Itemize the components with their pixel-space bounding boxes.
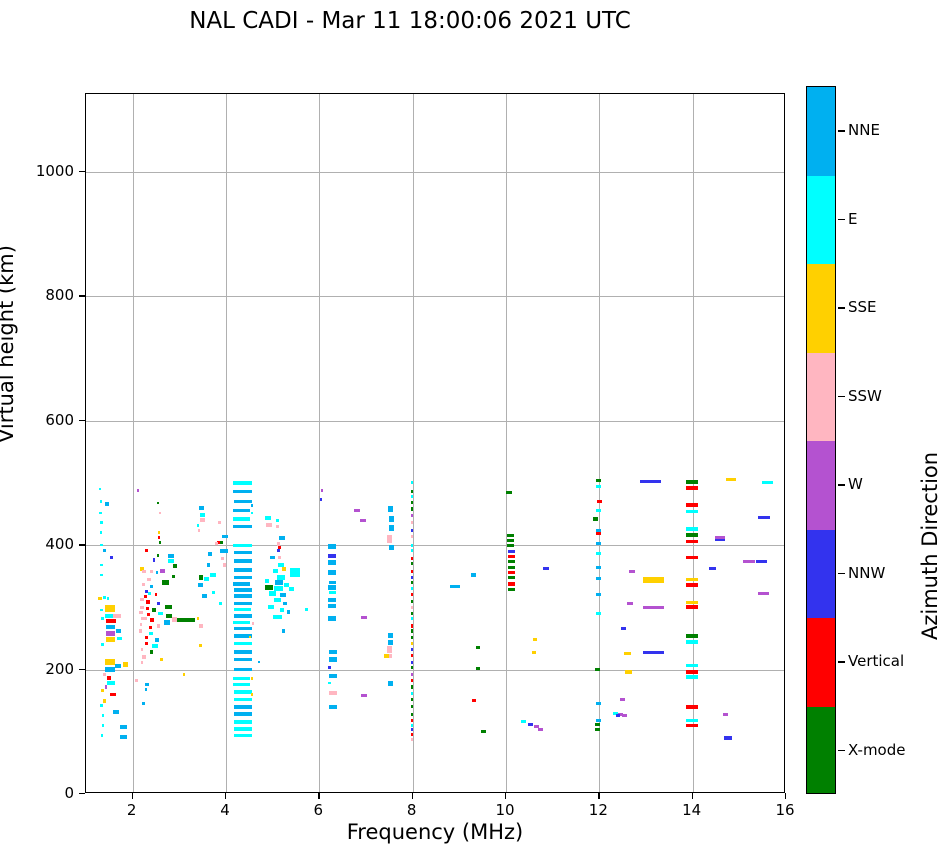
echo-mark	[411, 612, 413, 615]
echo-mark	[389, 525, 394, 531]
echo-mark	[411, 495, 413, 498]
echo-mark	[686, 486, 698, 490]
echo-mark	[234, 712, 252, 716]
x-tick-mark	[412, 793, 413, 799]
echo-mark	[596, 529, 601, 532]
colorbar-tick	[838, 219, 845, 220]
echo-mark	[142, 655, 146, 659]
echo-mark	[222, 535, 229, 539]
echo-mark	[153, 558, 155, 561]
y-tick-mark	[79, 295, 85, 296]
echo-mark	[173, 564, 177, 568]
echo-mark	[251, 512, 253, 514]
echo-mark	[329, 591, 336, 594]
colorbar-tick	[838, 661, 845, 662]
echo-mark	[411, 685, 413, 688]
echo-mark	[686, 640, 698, 644]
echo-mark	[150, 650, 153, 654]
echo-mark	[411, 654, 413, 657]
echo-mark	[361, 616, 367, 619]
echo-mark	[145, 688, 147, 690]
echo-mark	[743, 560, 755, 563]
echo-mark	[686, 705, 698, 709]
echo-mark	[361, 694, 367, 697]
echo-mark	[411, 724, 413, 727]
echo-mark	[233, 544, 252, 547]
echo-mark	[162, 580, 169, 584]
colorbar-tick	[838, 396, 845, 397]
echo-mark	[506, 491, 512, 494]
echo-mark	[221, 557, 224, 560]
echo-mark	[277, 575, 285, 580]
echo-mark	[411, 481, 413, 484]
echo-mark	[620, 698, 626, 701]
echo-mark	[388, 633, 393, 638]
echo-mark	[622, 714, 627, 717]
colorbar-tick	[838, 307, 845, 308]
echo-mark	[139, 629, 142, 632]
echo-mark	[507, 544, 514, 547]
echo-mark	[388, 640, 393, 645]
y-axis-label: Virtual height (km)	[0, 245, 18, 443]
echo-mark	[596, 612, 601, 615]
echo-mark	[218, 521, 221, 524]
echo-mark	[199, 644, 202, 647]
gridline-vertical	[226, 94, 227, 792]
echo-mark	[149, 632, 153, 636]
echo-mark	[234, 650, 252, 654]
echo-mark	[270, 556, 275, 560]
echo-mark	[234, 698, 252, 702]
echo-mark	[123, 662, 128, 666]
echo-mark	[116, 629, 122, 633]
echo-mark	[596, 593, 601, 596]
colorbar-segment-x-mode[interactable]	[807, 707, 835, 795]
echo-mark	[411, 617, 413, 620]
echo-mark	[411, 679, 413, 682]
echo-mark	[533, 638, 538, 641]
echo-mark	[329, 674, 337, 678]
echo-mark	[329, 650, 337, 654]
page-title: NAL CADI - Mar 11 18:00:06 2021 UTC	[0, 8, 820, 34]
echo-mark	[135, 679, 138, 682]
echo-mark	[220, 541, 223, 545]
echo-mark	[328, 560, 336, 564]
echo-mark	[234, 500, 252, 504]
echo-mark	[234, 658, 252, 662]
colorbar-segment-nnw[interactable]	[807, 530, 835, 619]
echo-mark	[107, 597, 110, 599]
echo-mark	[265, 585, 272, 589]
gridline-horizontal	[86, 545, 784, 546]
echo-mark	[508, 566, 515, 569]
echo-mark	[476, 646, 481, 649]
y-tick-label: 200	[10, 660, 74, 678]
echo-mark	[158, 536, 160, 539]
echo-mark	[275, 580, 282, 584]
echo-mark	[265, 516, 271, 520]
echo-mark	[388, 681, 393, 686]
colorbar-segment-ssw[interactable]	[807, 353, 835, 442]
echo-mark	[98, 597, 102, 600]
y-tick-mark	[79, 669, 85, 670]
echo-mark	[168, 559, 174, 563]
echo-mark	[233, 677, 250, 680]
echo-mark	[472, 699, 476, 702]
echo-mark	[411, 576, 413, 579]
echo-mark	[117, 637, 123, 641]
echo-mark	[360, 519, 366, 522]
colorbar-label-sse: SSE	[848, 298, 877, 316]
echo-mark	[329, 705, 337, 709]
echo-mark	[686, 675, 698, 678]
echo-mark	[411, 733, 413, 736]
echo-mark	[150, 618, 154, 622]
echo-mark	[596, 719, 601, 722]
echo-mark	[389, 545, 394, 550]
echo-mark	[643, 651, 664, 654]
echo-mark	[538, 728, 543, 731]
colorbar-segment-nne[interactable]	[807, 87, 835, 176]
echo-mark	[233, 481, 252, 485]
plot-area[interactable]	[85, 93, 785, 793]
echo-mark	[476, 667, 481, 670]
echo-mark	[621, 627, 626, 630]
echo-mark	[102, 714, 104, 716]
echo-mark	[159, 512, 161, 514]
echo-mark	[507, 534, 514, 537]
echo-mark	[411, 673, 413, 676]
echo-mark	[411, 501, 413, 504]
echo-mark	[233, 490, 252, 494]
echo-mark	[389, 516, 394, 522]
x-tick-mark	[598, 793, 599, 799]
echo-mark	[100, 704, 103, 707]
echo-mark	[411, 557, 413, 560]
colorbar-title: Azimuth Direction	[918, 452, 942, 640]
echo-mark	[411, 698, 413, 701]
echo-mark	[596, 566, 601, 569]
echo-mark	[276, 525, 279, 528]
x-tick-label: 12	[573, 801, 623, 819]
gridline-horizontal	[86, 172, 784, 173]
echo-mark	[147, 578, 150, 581]
echo-mark	[596, 552, 601, 555]
echo-mark	[199, 506, 204, 510]
echo-mark	[234, 727, 252, 731]
echo-mark	[596, 509, 601, 512]
echo-mark	[223, 563, 226, 566]
echo-mark	[200, 518, 205, 522]
echo-mark	[157, 624, 160, 627]
echo-mark	[277, 549, 280, 552]
echo-mark	[762, 481, 773, 484]
echo-mark	[120, 735, 127, 739]
echo-mark	[219, 602, 222, 605]
x-tick-label: 14	[667, 801, 717, 819]
colorbar-label-w: W	[848, 475, 863, 493]
echo-mark	[640, 480, 661, 483]
echo-mark	[290, 568, 300, 578]
echo-mark	[220, 549, 227, 553]
echo-mark	[145, 549, 148, 552]
echo-mark	[269, 591, 276, 595]
echo-mark	[328, 570, 336, 574]
echo-mark	[596, 577, 601, 580]
echo-mark	[100, 531, 102, 533]
echo-mark	[234, 690, 252, 694]
echo-mark	[726, 478, 735, 481]
echo-mark	[528, 723, 533, 726]
echo-mark	[287, 610, 291, 614]
x-tick-label: 6	[293, 801, 343, 819]
echo-mark	[155, 593, 158, 596]
y-tick-mark	[79, 793, 85, 794]
echo-mark	[107, 681, 115, 685]
colorbar-label-e: E	[848, 210, 857, 228]
echo-mark	[156, 571, 159, 574]
echo-mark	[106, 631, 115, 636]
y-tick-mark	[79, 544, 85, 545]
echo-mark	[101, 643, 104, 645]
echo-mark	[234, 559, 252, 563]
echo-mark	[105, 502, 108, 505]
colorbar-segment-w[interactable]	[807, 441, 835, 530]
echo-mark	[152, 644, 158, 648]
colorbar[interactable]	[806, 86, 836, 794]
echo-mark	[234, 568, 252, 572]
echo-mark	[164, 620, 170, 625]
echo-mark	[686, 670, 698, 674]
echo-mark	[234, 668, 252, 672]
echo-mark	[411, 581, 413, 584]
echo-mark	[102, 724, 104, 726]
echo-mark	[411, 606, 413, 609]
echo-mark	[280, 608, 285, 612]
echo-mark	[686, 527, 698, 531]
echo-mark	[251, 693, 253, 696]
echo-mark	[274, 598, 281, 602]
echo-mark	[157, 602, 160, 605]
echo-mark	[197, 524, 200, 527]
echo-mark	[686, 719, 698, 721]
echo-mark	[686, 503, 698, 507]
echo-mark	[197, 617, 200, 620]
echo-mark	[329, 691, 337, 695]
echo-mark	[234, 627, 252, 631]
echo-mark	[100, 564, 103, 566]
echo-mark	[208, 552, 213, 556]
x-tick-mark	[132, 793, 133, 799]
echo-mark	[252, 622, 254, 624]
echo-mark	[168, 554, 174, 558]
echo-mark	[411, 529, 413, 532]
echo-mark	[508, 550, 515, 553]
echo-mark	[411, 629, 413, 632]
echo-mark	[273, 615, 281, 619]
colorbar-tick	[838, 750, 845, 751]
echo-mark	[100, 609, 103, 611]
echo-mark	[624, 652, 631, 655]
echo-mark	[141, 661, 144, 664]
echo-mark	[328, 598, 336, 602]
echo-mark	[411, 624, 413, 627]
echo-mark	[411, 719, 413, 722]
echo-mark	[100, 544, 103, 546]
echo-mark	[234, 608, 251, 611]
echo-mark	[274, 586, 283, 590]
echo-mark	[101, 689, 104, 692]
gridline-vertical	[599, 94, 600, 792]
echo-mark	[158, 612, 163, 615]
echo-mark	[686, 583, 698, 587]
echo-mark	[234, 705, 252, 709]
echo-mark	[115, 664, 121, 668]
echo-mark	[198, 529, 201, 532]
echo-mark	[596, 479, 601, 482]
colorbar-label-ssw: SSW	[848, 387, 882, 405]
echo-mark	[234, 734, 252, 738]
echo-mark	[627, 602, 633, 605]
echo-mark	[183, 673, 186, 676]
echo-mark	[411, 549, 413, 552]
echo-mark	[411, 728, 413, 731]
echo-mark	[723, 713, 729, 716]
echo-mark	[686, 664, 698, 667]
echo-mark	[411, 562, 413, 565]
echo-mark	[507, 539, 514, 542]
echo-mark	[137, 489, 139, 491]
x-tick-label: 10	[480, 801, 530, 819]
echo-mark	[686, 605, 698, 609]
echo-mark	[756, 560, 767, 562]
echo-mark	[329, 581, 336, 584]
echo-mark	[150, 570, 153, 573]
echo-mark	[251, 504, 253, 506]
echo-mark	[686, 724, 698, 728]
echo-mark	[305, 608, 308, 611]
echo-mark	[595, 668, 600, 671]
echo-mark	[629, 570, 635, 573]
echo-mark	[103, 549, 106, 552]
echo-mark	[282, 629, 285, 632]
echo-mark	[105, 605, 115, 611]
echo-mark	[328, 682, 330, 684]
echo-mark	[508, 588, 515, 591]
echo-mark	[411, 666, 413, 669]
echo-mark	[686, 556, 698, 560]
echo-mark	[148, 592, 151, 595]
echo-mark	[686, 480, 698, 484]
echo-mark	[251, 677, 253, 680]
colorbar-label-nne: NNE	[848, 121, 880, 139]
echo-mark	[521, 720, 526, 723]
echo-mark	[158, 531, 160, 534]
colorbar-label-vertical: Vertical	[848, 652, 904, 670]
colorbar-segment-e[interactable]	[807, 176, 835, 265]
echo-mark	[106, 619, 116, 623]
x-axis-label: Frequency (MHz)	[85, 820, 785, 844]
echo-mark	[411, 535, 413, 538]
y-tick-mark	[79, 171, 85, 172]
ionogram-figure: NAL CADI - Mar 11 18:00:06 2021 UTC 0200…	[0, 0, 951, 856]
echo-mark	[686, 634, 698, 638]
echo-mark	[279, 536, 285, 540]
echo-mark	[411, 713, 413, 716]
echo-mark	[595, 728, 600, 731]
echo-mark	[724, 736, 731, 739]
echo-mark	[199, 575, 203, 579]
echo-mark	[157, 554, 159, 557]
echo-mark	[234, 576, 252, 580]
y-tick-label: 600	[10, 411, 74, 429]
echo-mark	[100, 521, 103, 523]
echo-mark	[616, 714, 620, 717]
echo-mark	[234, 642, 252, 646]
echo-mark	[321, 489, 323, 492]
echo-mark	[354, 509, 360, 512]
echo-mark	[110, 693, 116, 697]
echo-mark	[199, 624, 203, 628]
echo-mark	[105, 667, 115, 671]
echo-mark	[411, 705, 413, 708]
colorbar-segment-vertical[interactable]	[807, 618, 835, 707]
echo-mark	[157, 502, 159, 504]
echo-mark	[411, 514, 413, 517]
echo-mark	[152, 608, 156, 612]
echo-mark	[328, 666, 330, 669]
echo-mark	[234, 594, 252, 598]
echo-mark	[709, 567, 716, 570]
x-tick-label: 8	[387, 801, 437, 819]
colorbar-segment-sse[interactable]	[807, 264, 835, 353]
echo-mark	[145, 642, 148, 645]
echo-mark	[106, 637, 115, 643]
echo-mark	[144, 595, 147, 598]
echo-mark	[107, 676, 111, 680]
echo-mark	[215, 542, 218, 545]
echo-mark	[200, 513, 205, 517]
plot-canvas	[86, 94, 784, 792]
echo-mark	[233, 517, 250, 520]
gridline-horizontal	[86, 421, 784, 422]
echo-mark	[155, 638, 160, 642]
echo-mark	[142, 570, 146, 573]
x-tick-label: 16	[760, 801, 810, 819]
echo-mark	[233, 582, 250, 586]
x-tick-mark	[225, 793, 226, 799]
echo-mark	[105, 685, 108, 688]
y-tick-label: 800	[10, 286, 74, 304]
echo-mark	[101, 617, 104, 619]
echo-mark	[210, 573, 217, 577]
echo-mark	[758, 516, 770, 519]
echo-mark	[595, 723, 600, 726]
echo-mark	[160, 658, 163, 661]
echo-mark	[113, 614, 120, 618]
echo-mark	[411, 570, 413, 573]
echo-mark	[276, 519, 279, 522]
echo-mark	[328, 604, 336, 608]
echo-mark	[140, 606, 143, 609]
echo-mark	[103, 673, 106, 676]
echo-mark	[643, 606, 664, 609]
echo-mark	[329, 657, 337, 661]
echo-mark	[411, 593, 413, 596]
echo-mark	[508, 571, 515, 574]
echo-mark	[207, 563, 210, 566]
echo-mark	[508, 576, 515, 579]
